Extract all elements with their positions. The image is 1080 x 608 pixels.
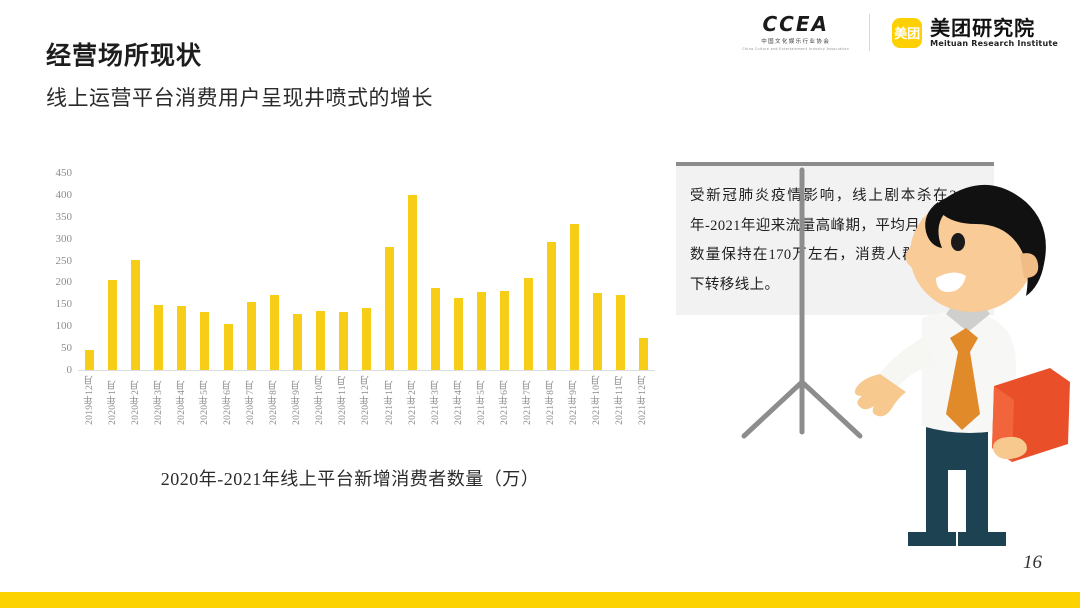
- ccea-chinese-name: 中国文化娱乐行业协会: [761, 37, 830, 45]
- x-axis-tick-label: 2020年1月: [106, 375, 120, 425]
- meituan-chinese-name: 美团研究院: [930, 18, 1058, 39]
- x-label-slot: 2020年12月: [355, 375, 378, 425]
- x-axis-tick-label: 2020年2月: [129, 375, 143, 425]
- bar-chart: 450400350300250200150100500 2019年12月2020…: [40, 165, 660, 505]
- x-label-slot: 2021年5月: [470, 375, 493, 425]
- presenter-illustration-svg: [740, 150, 1080, 570]
- bar-slot: [309, 173, 332, 370]
- chart-bar: [477, 292, 486, 370]
- meituan-english-name: Meituan Research Institute: [930, 39, 1058, 48]
- x-axis-tick-label: 2020年10月: [313, 375, 327, 425]
- x-axis-tick-label: 2021年12月: [636, 375, 650, 425]
- chart-bar: [108, 280, 117, 370]
- x-axis-tick-label: 2020年6月: [221, 375, 235, 425]
- x-label-slot: 2021年6月: [493, 375, 516, 425]
- chart-bar: [270, 295, 279, 370]
- meituan-logo-text: 美团研究院 Meituan Research Institute: [930, 18, 1058, 48]
- x-label-slot: 2020年1月: [101, 375, 124, 425]
- y-axis-tick: 250: [56, 255, 79, 267]
- x-axis-tick-label: 2021年10月: [590, 375, 604, 425]
- chart-bar: [593, 293, 602, 370]
- y-axis-tick: 400: [56, 189, 79, 201]
- chart-bar: [616, 295, 625, 370]
- x-label-slot: 2021年9月: [563, 375, 586, 425]
- x-label-slot: 2020年8月: [263, 375, 286, 425]
- chart-bar: [547, 242, 556, 370]
- x-axis-tick-label: 2020年5月: [198, 375, 212, 425]
- chart-bar: [131, 260, 140, 370]
- bar-slot: [586, 173, 609, 370]
- bar-slot: [401, 173, 424, 370]
- x-axis-tick-label: 2020年3月: [152, 375, 166, 425]
- x-axis-line: [78, 370, 655, 371]
- chart-bar: [224, 324, 233, 370]
- chart-bar: [639, 338, 648, 370]
- bar-slot: [263, 173, 286, 370]
- x-label-slot: 2020年5月: [193, 375, 216, 425]
- x-label-slot: 2020年9月: [286, 375, 309, 425]
- page-title: 经营场所现状: [46, 36, 202, 72]
- bar-slot: [540, 173, 563, 370]
- x-axis-tick-label: 2019年12月: [83, 375, 97, 425]
- y-axis-tick: 200: [56, 276, 79, 288]
- y-axis-tick: 100: [56, 320, 79, 332]
- chart-bar: [431, 288, 440, 370]
- meituan-logo: 美团 美团研究院 Meituan Research Institute: [892, 18, 1058, 48]
- x-axis-tick-label: 2021年6月: [498, 375, 512, 425]
- bar-slot: [124, 173, 147, 370]
- x-axis-tick-label: 2021年11月: [613, 375, 627, 425]
- x-label-slot: 2020年6月: [216, 375, 239, 425]
- chart-bar: [385, 247, 394, 370]
- x-axis-tick-label: 2021年9月: [567, 375, 581, 425]
- bar-series: [78, 173, 655, 370]
- chart-bar: [293, 314, 302, 370]
- presenter-illustration: [740, 150, 1080, 570]
- x-label-slot: 2021年8月: [540, 375, 563, 425]
- y-axis-tick: 300: [56, 233, 79, 245]
- chart-bar: [316, 311, 325, 370]
- x-label-slot: 2020年10月: [309, 375, 332, 425]
- chart-bar: [570, 224, 579, 370]
- x-label-slot: 2020年3月: [147, 375, 170, 425]
- x-axis-tick-label: 2021年8月: [544, 375, 558, 425]
- x-label-slot: 2021年10月: [586, 375, 609, 425]
- bar-slot: [563, 173, 586, 370]
- chart-bar: [500, 291, 509, 370]
- x-axis-tick-label: 2020年8月: [267, 375, 281, 425]
- x-axis-tick-label: 2021年4月: [452, 375, 466, 425]
- page-number: 16: [1023, 552, 1042, 574]
- x-label-slot: 2020年7月: [240, 375, 263, 425]
- bar-slot: [424, 173, 447, 370]
- chart-bar: [362, 308, 371, 370]
- x-label-slot: 2021年3月: [424, 375, 447, 425]
- chart-caption: 2020年-2021年线上平台新增消费者数量（万）: [40, 465, 660, 491]
- x-label-slot: 2021年1月: [378, 375, 401, 425]
- chart-bar: [247, 302, 256, 370]
- chart-bar: [454, 298, 463, 370]
- x-axis-tick-label: 2020年4月: [175, 375, 189, 425]
- bar-slot: [216, 173, 239, 370]
- x-label-slot: 2021年4月: [447, 375, 470, 425]
- x-label-slot: 2021年7月: [516, 375, 539, 425]
- chart-bar: [85, 350, 94, 370]
- ccea-logo: CCEA 中国文化娱乐行业协会 China Culture and Entert…: [742, 14, 870, 51]
- chart-bar: [339, 312, 348, 370]
- x-label-slot: 2021年12月: [632, 375, 655, 425]
- bar-slot: [609, 173, 632, 370]
- presenter-figure-icon: [855, 185, 1070, 546]
- x-label-slot: 2020年4月: [170, 375, 193, 425]
- bar-slot: [101, 173, 124, 370]
- y-axis-tick: 350: [56, 211, 79, 223]
- x-label-slot: 2021年11月: [609, 375, 632, 425]
- x-axis-tick-label: 2021年5月: [475, 375, 489, 425]
- x-label-slot: 2020年11月: [332, 375, 355, 425]
- meituan-mark-icon: 美团: [892, 18, 922, 48]
- x-axis-tick-label: 2021年3月: [429, 375, 443, 425]
- x-label-slot: 2020年2月: [124, 375, 147, 425]
- chart-bar: [524, 278, 533, 370]
- y-axis-tick: 150: [56, 298, 79, 310]
- bar-slot: [193, 173, 216, 370]
- bar-slot: [355, 173, 378, 370]
- ccea-english-name: China Culture and Entertainment Industry…: [742, 47, 849, 51]
- y-axis-tick: 50: [61, 342, 78, 354]
- bar-slot: [378, 173, 401, 370]
- chart-bar: [408, 195, 417, 370]
- chart-bar: [154, 305, 163, 370]
- x-axis-labels: 2019年12月2020年1月2020年2月2020年3月2020年4月2020…: [78, 375, 655, 425]
- footer-accent-bar: [0, 592, 1080, 608]
- easel-stand-icon: [744, 170, 860, 436]
- x-axis-tick-label: 2020年12月: [359, 375, 373, 425]
- x-axis-tick-label: 2020年11月: [336, 375, 350, 425]
- bar-slot: [493, 173, 516, 370]
- x-label-slot: 2021年2月: [401, 375, 424, 425]
- bar-slot: [147, 173, 170, 370]
- bar-slot: [516, 173, 539, 370]
- chart-axes: 450400350300250200150100500: [78, 173, 655, 370]
- logo-bar: CCEA 中国文化娱乐行业协会 China Culture and Entert…: [742, 14, 1058, 51]
- bar-slot: [78, 173, 101, 370]
- bar-slot: [240, 173, 263, 370]
- x-axis-tick-label: 2020年9月: [290, 375, 304, 425]
- x-axis-tick-label: 2021年7月: [521, 375, 535, 425]
- bar-slot: [286, 173, 309, 370]
- x-axis-tick-label: 2020年7月: [244, 375, 258, 425]
- bar-slot: [447, 173, 470, 370]
- chart-bar: [177, 306, 186, 370]
- bar-slot: [470, 173, 493, 370]
- bar-slot: [332, 173, 355, 370]
- y-axis-tick: 450: [56, 167, 79, 179]
- bar-slot: [170, 173, 193, 370]
- ccea-wordmark: CCEA: [762, 14, 829, 34]
- x-label-slot: 2019年12月: [78, 375, 101, 425]
- y-axis-tick: 0: [67, 364, 79, 376]
- x-axis-tick-label: 2021年2月: [406, 375, 420, 425]
- bar-slot: [632, 173, 655, 370]
- x-axis-tick-label: 2021年1月: [383, 375, 397, 425]
- page-subtitle: 线上运营平台消费用户呈现井喷式的增长: [46, 82, 433, 112]
- chart-plot-area: 450400350300250200150100500 2019年12月2020…: [40, 165, 660, 377]
- chart-bar: [200, 312, 209, 370]
